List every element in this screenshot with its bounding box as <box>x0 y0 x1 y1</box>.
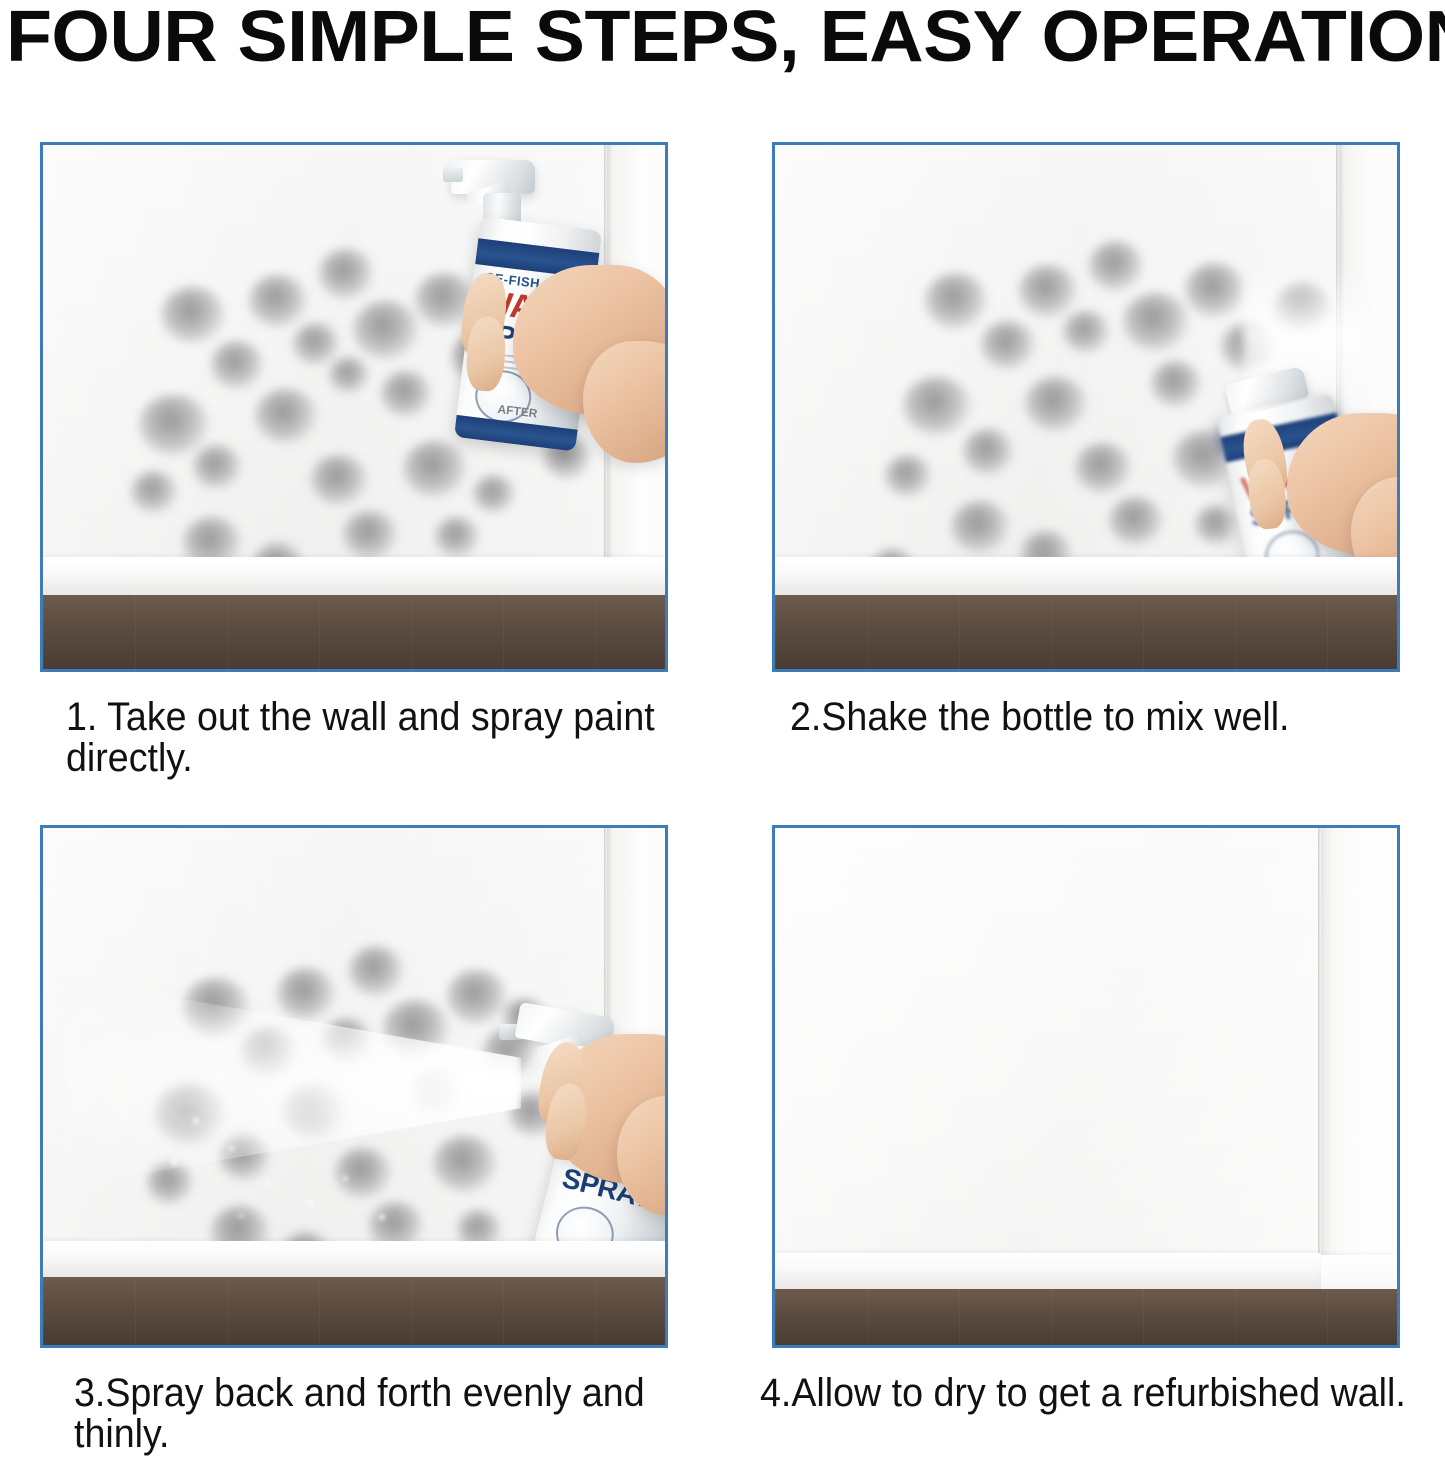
step-1-photo: SE-FISH WALL SPRAY AFTER <box>40 142 668 672</box>
step-caption-4: 4.Allow to dry to get a refurbished wall… <box>760 1373 1418 1414</box>
step-panel-3: WALL SPRAY <box>40 825 668 1348</box>
nozzle <box>443 167 463 182</box>
step-4-photo <box>772 825 1400 1348</box>
wood-floor <box>775 1289 1397 1345</box>
baseboard <box>43 1241 665 1277</box>
baseboard <box>43 557 665 595</box>
step-3-photo: WALL SPRAY <box>40 825 668 1348</box>
wood-floor <box>43 1277 665 1345</box>
step-caption-1: 1. Take out the wall and spray paint dir… <box>66 697 686 779</box>
step-panel-1: SE-FISH WALL SPRAY AFTER <box>40 142 668 672</box>
step-caption-2: 2.Shake the bottle to mix well. <box>790 697 1410 738</box>
wood-floor <box>43 595 665 669</box>
step-panel-2: WALL SPRAY <box>772 142 1400 672</box>
baseboard <box>775 557 1397 595</box>
wood-floor <box>775 595 1397 669</box>
step-2-photo: WALL SPRAY <box>772 142 1400 672</box>
step-panel-4 <box>772 825 1400 1348</box>
baseboard <box>775 1253 1321 1289</box>
step-caption-3: 3.Spray back and forth evenly and thinly… <box>74 1373 694 1455</box>
